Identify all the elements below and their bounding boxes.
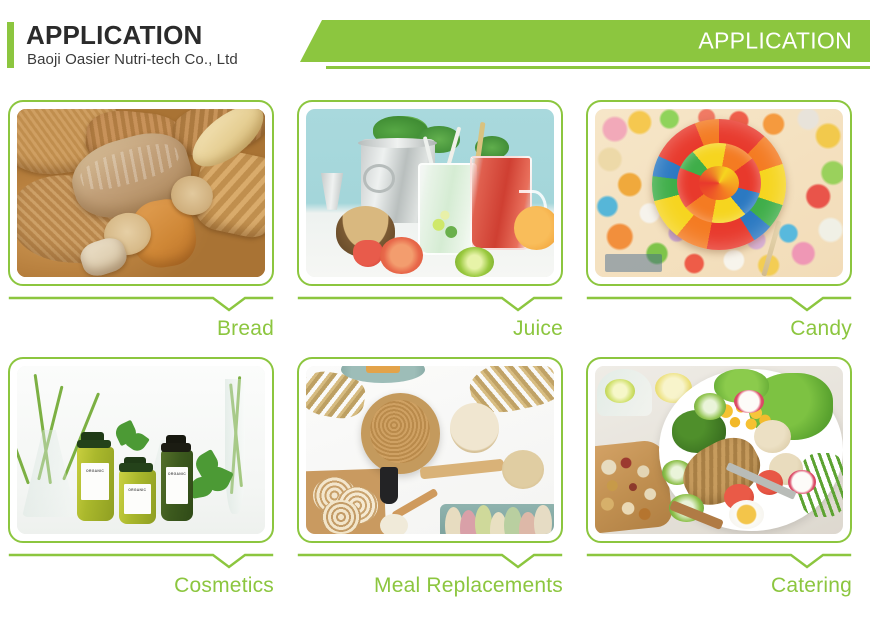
image-watermark — [605, 254, 662, 272]
bottle-label-text: ORGANIC — [124, 488, 151, 492]
header-banner-label: APPLICATION — [698, 28, 852, 55]
card-frame — [586, 100, 852, 286]
card-frame — [297, 100, 563, 286]
caption-rule — [8, 295, 274, 313]
application-card-bread[interactable]: Bread — [8, 100, 284, 341]
application-card-meal-replacements[interactable]: Meal Replacements — [297, 357, 573, 598]
card-frame: ORGANIC ORGANIC ORGANIC — [8, 357, 274, 543]
application-card-cosmetics[interactable]: ORGANIC ORGANIC ORGANIC Cosmetics — [8, 357, 284, 598]
application-card-catering[interactable]: Catering — [586, 357, 862, 598]
application-grid: Bread — [0, 92, 870, 629]
card-label-cosmetics: Cosmetics — [8, 574, 274, 598]
catering-photo — [595, 366, 843, 534]
card-label-catering: Catering — [586, 574, 852, 598]
caption-rule — [586, 295, 852, 313]
caption-rule — [297, 552, 563, 570]
caption-rule — [586, 552, 852, 570]
bread-photo — [17, 109, 265, 277]
bottle-label-text: ORGANIC — [81, 469, 108, 473]
card-frame — [297, 357, 563, 543]
bottle-label-text: ORGANIC — [166, 472, 188, 476]
header-accent-bar — [7, 22, 14, 68]
card-label-bread: Bread — [8, 317, 274, 341]
card-frame — [8, 100, 274, 286]
card-label-juice: Juice — [297, 317, 563, 341]
page-title: APPLICATION — [26, 20, 203, 51]
header-underline — [326, 66, 870, 69]
caption-rule — [297, 295, 563, 313]
page-header: APPLICATION Baoji Oasier Nutri-tech Co.,… — [0, 0, 870, 92]
card-frame — [586, 357, 852, 543]
company-name: Baoji Oasier Nutri-tech Co., Ltd — [27, 51, 238, 68]
application-card-juice[interactable]: Juice — [297, 100, 573, 341]
caption-rule — [8, 552, 274, 570]
juice-photo — [306, 109, 554, 277]
card-label-candy: Candy — [586, 317, 852, 341]
meal-replacements-photo — [306, 366, 554, 534]
application-card-candy[interactable]: Candy — [586, 100, 862, 341]
header-banner: APPLICATION — [300, 20, 870, 62]
cosmetics-photo: ORGANIC ORGANIC ORGANIC — [17, 366, 265, 534]
candy-photo — [595, 109, 843, 277]
card-label-meal-replacements: Meal Replacements — [297, 574, 563, 598]
application-page: APPLICATION Baoji Oasier Nutri-tech Co.,… — [0, 0, 870, 629]
